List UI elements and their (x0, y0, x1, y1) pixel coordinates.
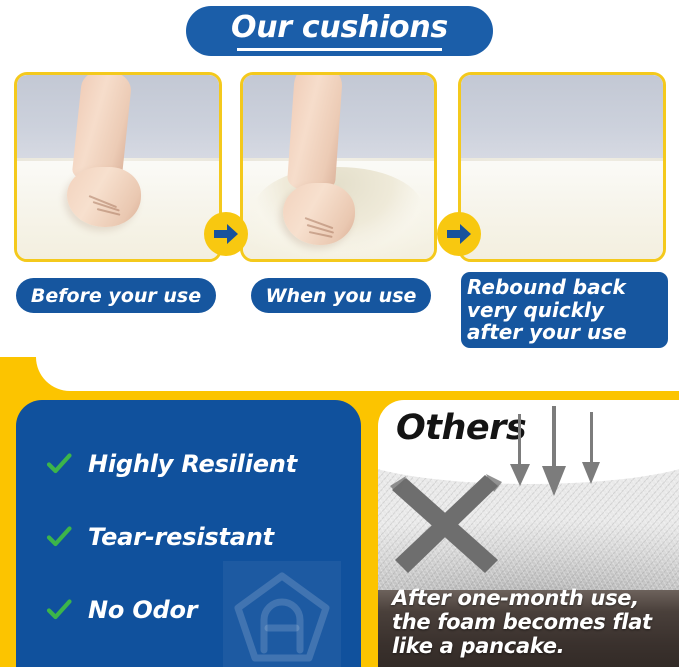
feature-item: Tear-resistant (46, 509, 346, 565)
arrow-right-icon (213, 223, 239, 245)
feature-label: Tear-resistant (88, 523, 274, 551)
foam-scene-rebounded (461, 75, 663, 259)
photo-before-use (14, 72, 222, 262)
ours-features-panel: Highly Resilient Tear-resistant No Odor (16, 400, 361, 667)
check-icon (46, 597, 72, 623)
foam-edge (243, 158, 434, 161)
fist (67, 167, 141, 227)
arrow-right-icon (446, 223, 472, 245)
forearm (287, 72, 344, 193)
photo-when-you-use (240, 72, 437, 262)
photo-rebounded (458, 72, 666, 262)
others-comparison-panel: Others (378, 400, 679, 667)
others-caption-line-1: After one-month use, (392, 587, 652, 611)
step-label-line-2: very quickly (467, 299, 604, 321)
step-arrow-1 (204, 212, 248, 256)
feature-item: Highly Resilient (46, 436, 346, 492)
pentagon-house-logo-icon (234, 570, 330, 662)
foam-scene-before (17, 75, 219, 259)
feature-label: No Odor (88, 596, 197, 624)
pressure-arrows (504, 406, 614, 506)
step-label-line-3: after your use (467, 321, 627, 343)
foam-edge (461, 158, 663, 161)
step-arrow-2 (437, 212, 481, 256)
fist (283, 183, 355, 245)
infographic-page: Our cushions (0, 0, 679, 667)
title-underline (237, 48, 442, 51)
x-mark (386, 472, 504, 580)
down-arrow-icon (504, 406, 614, 506)
foam-scene-pressed (243, 75, 434, 259)
x-cross-icon (386, 472, 504, 580)
step-label-rebound: Rebound back very quickly after your use (461, 272, 668, 348)
foam-slab (461, 158, 663, 259)
photo-sequence (0, 72, 679, 262)
others-caption: After one-month use, the foam becomes fl… (392, 587, 652, 659)
check-icon (46, 524, 72, 550)
feature-label: Highly Resilient (88, 450, 297, 478)
page-title-banner: Our cushions (186, 6, 493, 56)
background-wall (461, 75, 663, 161)
step-label-line-1: Rebound back (467, 276, 626, 298)
step-label-text: Before your use (31, 285, 201, 307)
others-caption-line-3: like a pancake. (392, 635, 652, 659)
yellow-curve-notch (36, 357, 679, 391)
page-title: Our cushions (231, 13, 448, 43)
brand-watermark (223, 561, 341, 667)
check-icon (46, 451, 72, 477)
step-label-text: When you use (266, 285, 417, 307)
step-label-before-use: Before your use (16, 278, 216, 313)
others-caption-line-2: the foam becomes flat (392, 611, 652, 635)
step-label-when-you-use: When you use (251, 278, 431, 313)
